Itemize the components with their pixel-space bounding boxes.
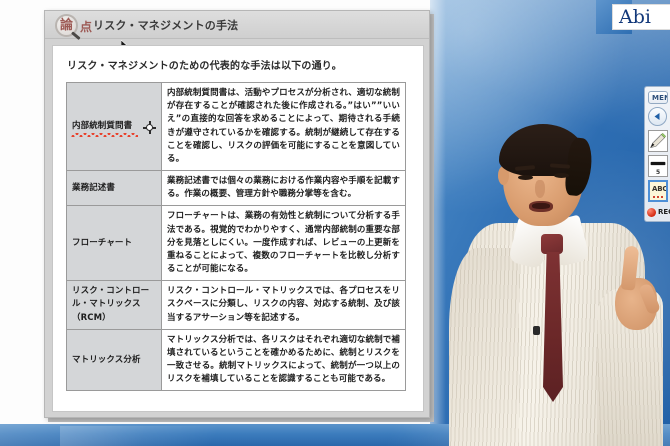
line-weight-value: 5 — [656, 169, 660, 176]
table-row: 業務記述書 業務記述書では個々の業務における作業内容や手順を記載する。作業の概要… — [67, 171, 406, 206]
intro-text: リスク・マネジメントのための代表的な手法は以下の通り。 — [67, 57, 342, 72]
table-row: フローチャート フローチャートは、業務の有効性と統制について分析する手法である。… — [67, 206, 406, 281]
term-label: 内部統制質問書 — [72, 120, 132, 133]
text-tool-label: ABC — [652, 185, 667, 193]
presenter-left-shoulder — [449, 248, 519, 446]
slide-content-area: リスク・マネジメントのための代表的な手法は以下の通り。 内部統制質問書 内部統制… — [52, 45, 424, 412]
presenter-nose — [535, 180, 545, 198]
record-label: REC — [658, 208, 670, 216]
back-arrow-icon — [653, 112, 662, 121]
table-cell-term: リスク・コントロール・マトリックス（RCM） — [67, 281, 162, 330]
slide-frame: 論 点 リスク・マネジメントの手法 リスク・マネジメントのための代表的な手法は以… — [44, 10, 430, 418]
presenter-figure — [455, 108, 670, 446]
table-cell-term: 内部統制質問書 — [67, 83, 162, 171]
table-row: リスク・コントロール・マトリックス（RCM） リスク・コントロール・マトリックス… — [67, 281, 406, 330]
presenter-mouth-inner — [532, 203, 550, 209]
presenter-lapel-mic — [533, 326, 540, 335]
text-tool-wavy-underline-icon — [652, 195, 664, 198]
text-tool-button[interactable]: ABC — [648, 180, 668, 202]
risk-management-methods-table: 内部統制質問書 内部統制質問書は、活動やプロセスが分析され、適切な統制が存在する… — [66, 82, 406, 391]
table-cell-term: 業務記述書 — [67, 171, 162, 206]
pen-tool-button[interactable] — [648, 130, 668, 152]
menu-button[interactable]: MEN — [648, 91, 668, 104]
annotation-toolbar: MEN 5 ABC REC — [644, 86, 670, 222]
table-row: マトリックス分析 マトリックス分析では、各リスクはそれぞれ適切な統制で補填されて… — [67, 329, 406, 391]
brand-logo-text: Abi — [619, 6, 651, 28]
move-crosshair-cursor — [143, 121, 156, 134]
brand-logo: Abi — [612, 4, 670, 30]
table-cell-term: マトリックス分析 — [67, 329, 162, 391]
screen-root: Abi 論 点 リスク・マネジメントの手法 リスク・マネジメントのための代表的な… — [0, 0, 670, 446]
table-cell-description: マトリックス分析では、各リスクはそれぞれ適切な統制で補填されているということを確… — [162, 329, 406, 391]
presenter-eye-left — [518, 175, 533, 180]
record-button[interactable]: REC — [646, 205, 670, 219]
slide-title: リスク・マネジメントの手法 — [93, 17, 238, 33]
table-cell-description: 内部統制質問書は、活動やプロセスが分析され、適切な統制が存在することが確認された… — [162, 83, 406, 171]
table-cell-description: 業務記述書では個々の業務における作業内容や手順を記載する。作業の概要、管理方針や… — [162, 171, 406, 206]
table-row: 内部統制質問書 内部統制質問書は、活動やプロセスが分析され、適切な統制が存在する… — [67, 83, 406, 171]
line-thickness-tool-button[interactable]: 5 — [648, 155, 668, 177]
presenter-eye-right — [554, 173, 569, 178]
record-dot-icon — [647, 208, 656, 217]
back-button[interactable] — [648, 107, 667, 126]
table-cell-description: リスク・コントロール・マトリックスでは、各プロセスをリスクベースに分類し、リスク… — [162, 281, 406, 330]
pen-icon — [649, 131, 667, 151]
table-cell-description: フローチャートは、業務の有効性と統制について分析する手法である。視覚的でわかりや… — [162, 206, 406, 281]
ronten-badge: 論 点 — [53, 13, 97, 39]
table-cell-term: フローチャート — [67, 206, 162, 281]
presenter-tie-knot — [541, 234, 563, 254]
ronten-kanji-ten: 点 — [80, 18, 92, 35]
menu-button-label: MEN — [652, 94, 668, 102]
